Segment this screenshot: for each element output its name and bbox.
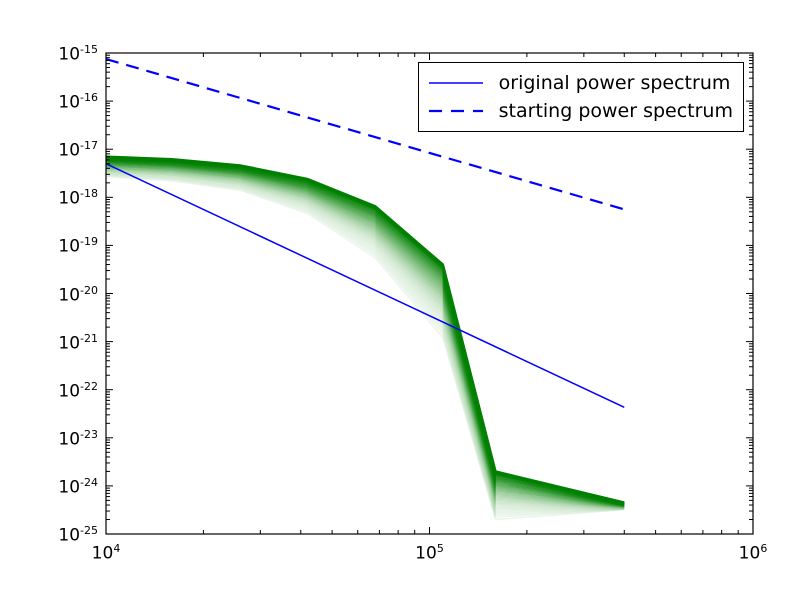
x-tick-label: 104 (66, 543, 146, 563)
y-tick-label: 10-18 (58, 188, 98, 208)
y-tick-label: 10-16 (58, 92, 98, 112)
legend-sample-dashed (427, 104, 485, 118)
y-tick-label: 10-25 (58, 525, 98, 545)
legend-item-original: original power spectrum (427, 69, 733, 97)
x-tick-label: 106 (713, 543, 793, 563)
y-tick-label: 10-24 (58, 477, 98, 497)
legend-label-original: original power spectrum (499, 72, 731, 94)
y-tick-label: 10-22 (58, 381, 98, 401)
y-tick-label: 10-15 (58, 44, 98, 64)
y-tick-label: 10-21 (58, 333, 98, 353)
legend-item-starting: starting power spectrum (427, 97, 733, 125)
y-tick-label: 10-23 (58, 429, 98, 449)
legend: original power spectrum starting power s… (418, 62, 744, 132)
x-tick-label: 105 (390, 543, 470, 563)
y-tick-label: 10-19 (58, 236, 98, 256)
legend-sample-solid (427, 76, 485, 90)
legend-label-starting: starting power spectrum (499, 100, 733, 122)
y-tick-label: 10-20 (58, 285, 98, 305)
figure: 10-1510-1610-1710-1810-1910-2010-2110-22… (0, 0, 800, 600)
y-tick-label: 10-17 (58, 140, 98, 160)
